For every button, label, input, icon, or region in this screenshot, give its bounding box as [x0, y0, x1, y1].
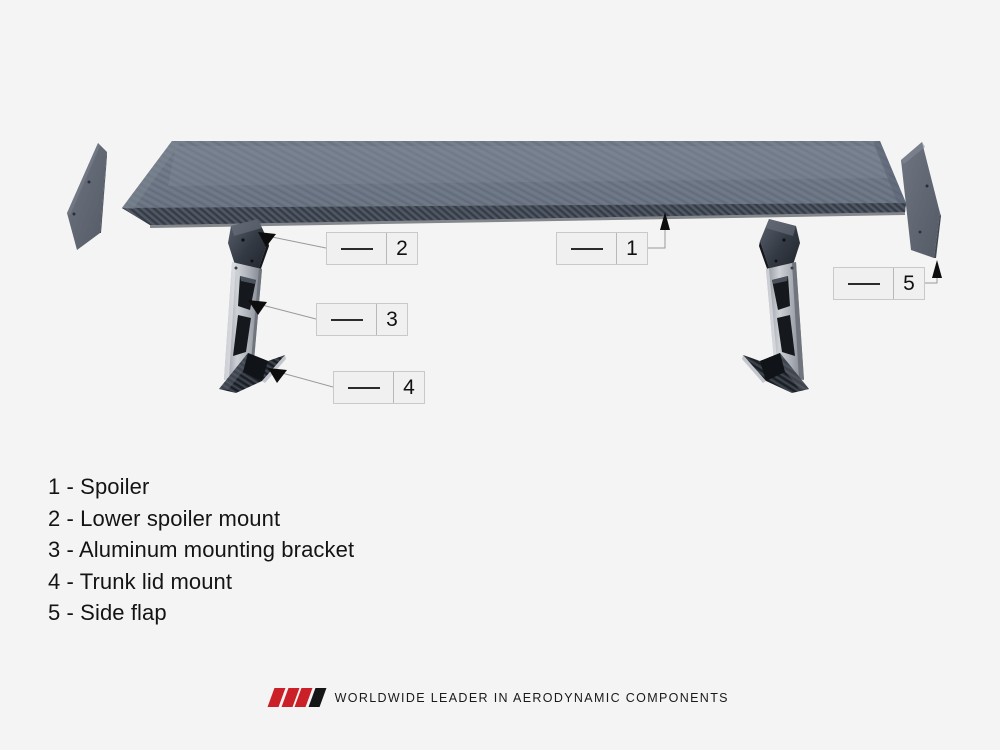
leader-line-4	[282, 373, 333, 387]
callout-number-1: 1	[617, 233, 647, 264]
callout-box-3[interactable]: 3	[316, 303, 408, 336]
callout-box-5[interactable]: 5	[833, 267, 925, 300]
callout-dash-4	[334, 372, 394, 403]
leader-line-2	[272, 237, 326, 248]
spoiler-illustration	[0, 0, 1000, 750]
side-flap-left	[67, 143, 107, 250]
leader-line-3	[262, 305, 316, 319]
arrowhead-5	[932, 260, 942, 278]
spoiler-wing	[122, 141, 906, 228]
brand-tagline: WORLDWIDE LEADER IN AERODYNAMIC COMPONEN…	[335, 691, 729, 705]
callout-dash-3	[317, 304, 377, 335]
callout-number-4: 4	[394, 372, 424, 403]
legend-item-3: 3 - Aluminum mounting bracket	[48, 534, 354, 566]
legend-item-2: 2 - Lower spoiler mount	[48, 503, 354, 535]
callout-box-2[interactable]: 2	[326, 232, 418, 265]
side-flap-right	[901, 142, 941, 258]
brand-logo-icon	[271, 688, 323, 707]
legend-item-4: 4 - Trunk lid mount	[48, 566, 354, 598]
stanchion-assembly-right	[742, 219, 809, 393]
product-diagram: 1 2 3 4 5 1 - Spoiler 2 - Lower spoiler …	[0, 0, 1000, 750]
callout-number-3: 3	[377, 304, 407, 335]
callout-dash-1	[557, 233, 617, 264]
callout-box-4[interactable]: 4	[333, 371, 425, 404]
parts-legend: 1 - Spoiler 2 - Lower spoiler mount 3 - …	[48, 471, 354, 629]
legend-item-1: 1 - Spoiler	[48, 471, 354, 503]
callout-box-1[interactable]: 1	[556, 232, 648, 265]
callout-number-5: 5	[894, 268, 924, 299]
callout-dash-2	[327, 233, 387, 264]
footer-branding: WORLDWIDE LEADER IN AERODYNAMIC COMPONEN…	[0, 688, 1000, 707]
callout-dash-5	[834, 268, 894, 299]
callout-number-2: 2	[387, 233, 417, 264]
legend-item-5: 5 - Side flap	[48, 597, 354, 629]
